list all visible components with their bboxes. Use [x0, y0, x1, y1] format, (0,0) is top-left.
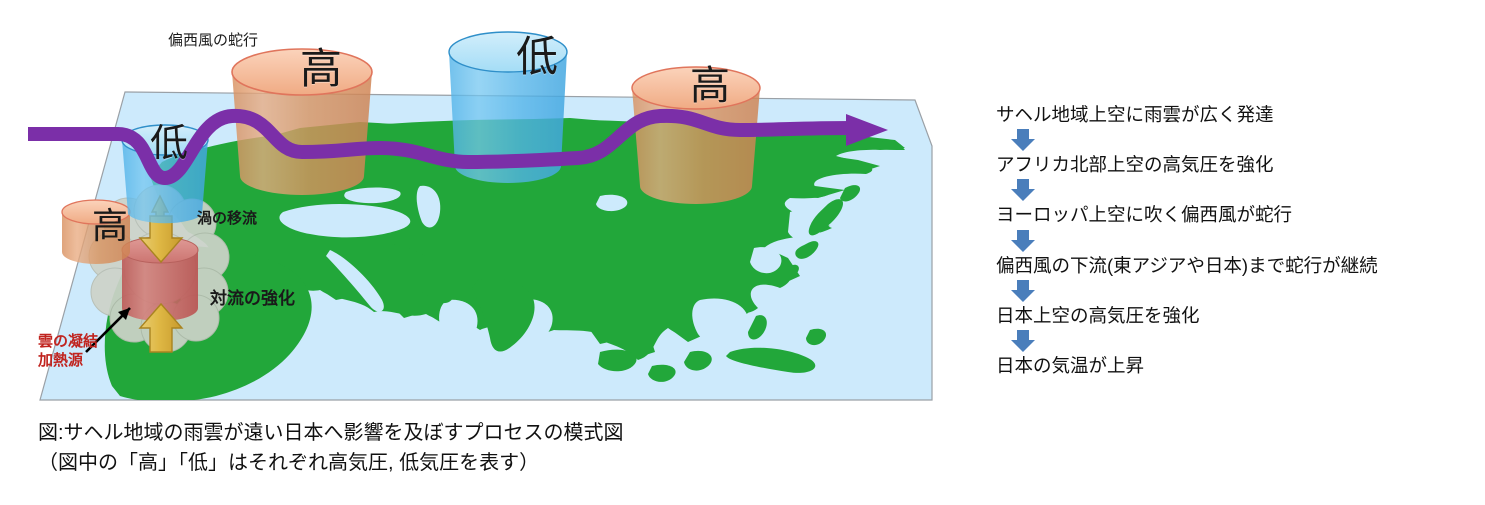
caption-line-1: 図:サヘル地域の雨雲が遠い日本へ影響を及ぼすプロセスの模式図: [38, 418, 938, 448]
diagram-canvas: [0, 0, 960, 410]
caption-line-2: （図中の「高」「低」はそれぞれ高気圧, 低気圧を表す）: [38, 448, 938, 478]
flow-down-arrow-1: [1008, 127, 1038, 153]
flow-step-5: 日本上空の高気圧を強化: [996, 305, 1476, 327]
flow-step-3: ヨーロッパ上空に吹く偏西風が蛇行: [996, 204, 1476, 226]
schematic-diagram: 偏西風の蛇行 低 高 低 高 高 渦の移流 対流の強化 雲の凝結 加熱源: [0, 0, 960, 410]
flow-down-arrow-5: [1008, 328, 1038, 354]
flow-step-6: 日本の気温が上昇: [996, 355, 1476, 377]
flow-down-arrow-2: [1008, 177, 1038, 203]
figure-caption: 図:サヘル地域の雨雲が遠い日本へ影響を及ぼすプロセスの模式図 （図中の「高」「低…: [38, 418, 938, 478]
figure-root: 偏西風の蛇行 低 高 低 高 高 渦の移流 対流の強化 雲の凝結 加熱源 サヘル…: [0, 0, 1485, 505]
flow-step-2: アフリカ北部上空の高気圧を強化: [996, 154, 1476, 176]
flow-step-4: 偏西風の下流(東アジアや日本)まで蛇行が継続: [996, 255, 1476, 277]
flow-down-arrow-4: [1008, 278, 1038, 304]
pressure-high-sahel: [62, 200, 130, 264]
process-flow-list: サヘル地域上空に雨雲が広く発達 アフリカ北部上空の高気圧を強化 ヨーロッパ上空に…: [996, 104, 1476, 377]
flow-step-1: サヘル地域上空に雨雲が広く発達: [996, 104, 1476, 126]
flow-down-arrow-3: [1008, 228, 1038, 254]
